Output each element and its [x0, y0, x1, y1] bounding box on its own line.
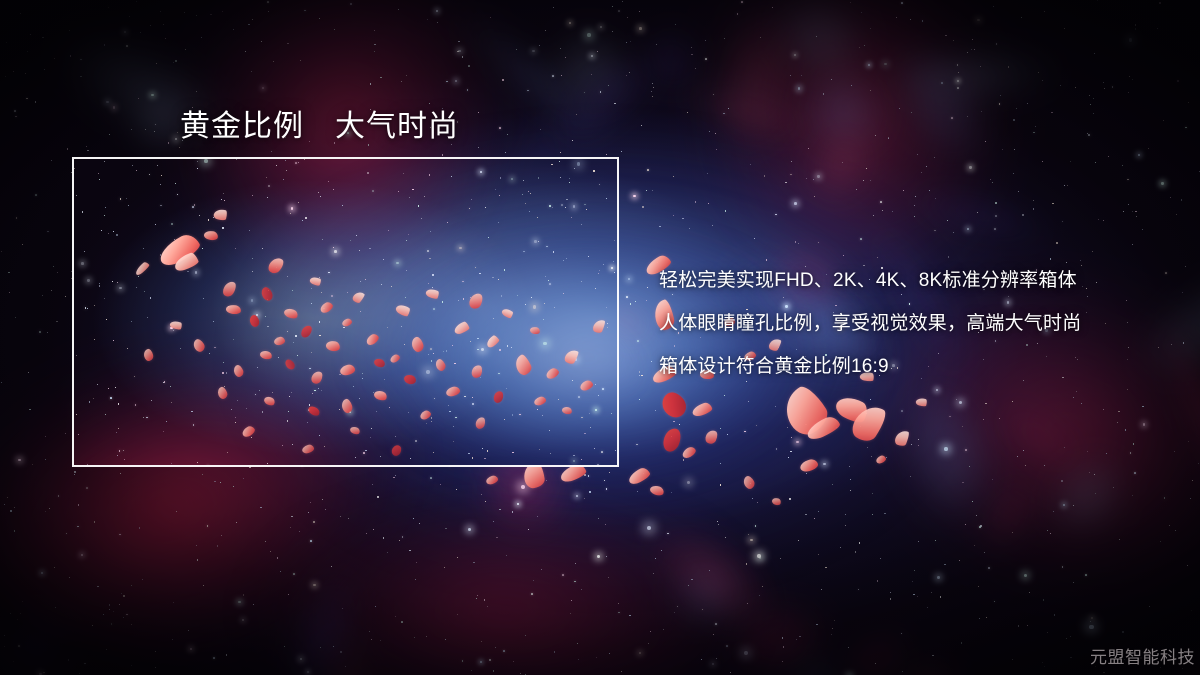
watermark: 元盟智能科技 [1090, 643, 1195, 668]
description-text-block: 轻松完美实现FHD、2K、4K、8K标准分辨率箱体 人体眼睛瞳孔比例，享受视觉效… [659, 259, 1179, 388]
framed-starfield [74, 159, 617, 465]
galaxy-petals-image-frame [72, 157, 619, 467]
framed-image-content [74, 159, 617, 465]
description-line-3: 箱体设计符合黄金比例16:9 [659, 345, 1179, 388]
description-line-1: 轻松完美实现FHD、2K、4K、8K标准分辨率箱体 [659, 259, 1179, 302]
description-line-2: 人体眼睛瞳孔比例，享受视觉效果，高端大气时尚 [659, 302, 1179, 345]
page-title: 黄金比例 大气时尚 [180, 101, 459, 145]
presentation-slide: 黄金比例 大气时尚 轻松完美实现FHD、2K、4K、8K标准分辨率箱体 人体眼睛… [0, 0, 1200, 675]
